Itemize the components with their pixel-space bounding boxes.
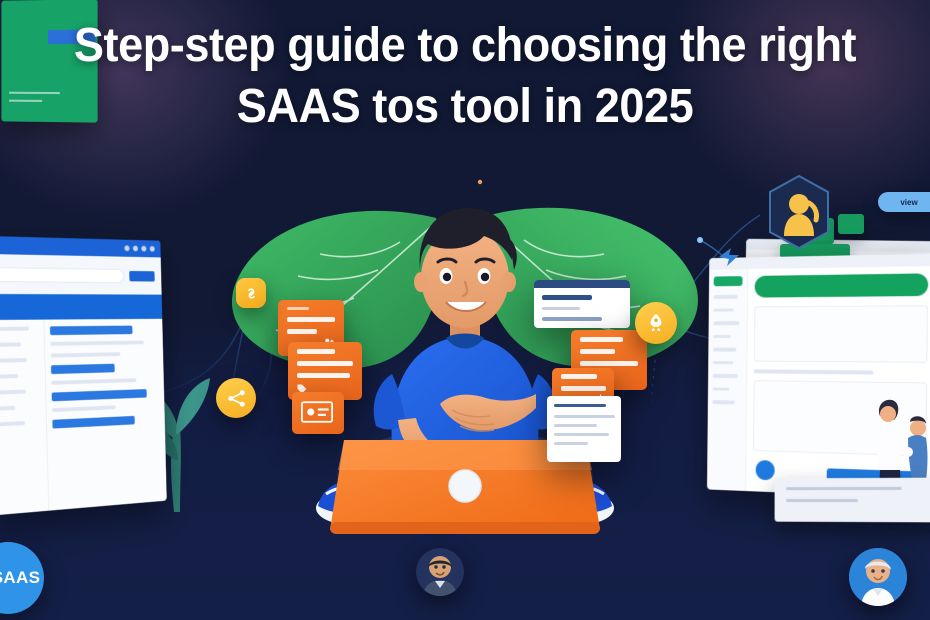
sidebar-item[interactable]	[713, 348, 736, 352]
card-line	[561, 386, 606, 391]
list-item	[554, 424, 597, 427]
sidebar-item[interactable]	[713, 334, 731, 337]
list-item[interactable]	[0, 374, 18, 379]
sidebar-item[interactable]	[713, 387, 730, 391]
gold-rocket-badge[interactable]	[635, 302, 677, 344]
gold-square-badge[interactable]	[236, 278, 266, 308]
headline-line-1: Step-step guide to choosing the right	[28, 16, 902, 76]
panel-left-detail	[44, 319, 166, 511]
card-line	[580, 361, 638, 366]
headline-line-2: SAAS tos tool in 2025	[28, 76, 902, 138]
card-line	[542, 317, 602, 321]
panel-left-body	[0, 319, 167, 516]
hero-illustration: Step-step guide to choosing the right SA…	[0, 0, 930, 620]
gold-network-badge[interactable]	[216, 378, 256, 418]
sidebar-item[interactable]	[713, 374, 738, 378]
cart-icon[interactable]	[133, 246, 138, 252]
list-item	[554, 433, 609, 436]
list-title	[554, 404, 606, 407]
status-badge	[52, 416, 135, 429]
sidebar-item[interactable]	[712, 400, 734, 404]
rocket-icon	[645, 312, 667, 334]
panel-left-search-row[interactable]	[0, 254, 162, 295]
detail-line	[51, 378, 136, 385]
avatar-right-bottom[interactable]	[849, 548, 907, 606]
green-banner	[755, 273, 929, 297]
card-line	[580, 349, 615, 354]
card-line	[561, 374, 597, 379]
sidebar-item[interactable]	[713, 321, 739, 324]
card-line	[542, 307, 580, 310]
cursor-arrow-icon	[717, 246, 741, 268]
light-info-strip[interactable]	[775, 478, 930, 523]
bell-icon[interactable]	[124, 245, 129, 251]
detail-line	[50, 340, 143, 345]
status-badge	[50, 326, 133, 336]
list-item	[554, 415, 615, 418]
link-icon	[243, 285, 260, 302]
list-item[interactable]	[0, 327, 29, 331]
hex-avatar-frame[interactable]	[766, 174, 832, 250]
list-item[interactable]	[0, 421, 25, 427]
detail-line	[52, 405, 116, 412]
detail-line	[51, 352, 121, 357]
strip-line	[786, 499, 858, 502]
green-chip-b	[838, 214, 864, 234]
white-notification-card[interactable]	[534, 280, 630, 328]
sidebar-logo	[714, 276, 743, 286]
sidebar-item[interactable]	[713, 308, 733, 312]
card-header	[534, 280, 630, 288]
card-title	[542, 295, 592, 300]
sidebar-item[interactable]	[714, 295, 738, 299]
sidebar[interactable]	[707, 269, 748, 491]
chat-icon[interactable]	[756, 460, 775, 480]
list-item[interactable]	[0, 358, 27, 363]
panel-left-section-header	[0, 294, 162, 320]
list-item[interactable]	[0, 390, 26, 395]
content-card[interactable]	[754, 305, 928, 363]
card-line	[580, 337, 623, 342]
primary-button[interactable]	[129, 270, 154, 281]
list-item[interactable]	[0, 342, 21, 346]
user-icon[interactable]	[150, 246, 155, 252]
saas-bubble-label: SAAS	[0, 568, 40, 588]
avatar-center-bottom[interactable]	[416, 548, 464, 596]
panel-left-dashboard[interactable]	[0, 236, 167, 516]
panel-left-rows[interactable]	[0, 320, 49, 516]
sidebar-item[interactable]	[713, 361, 734, 365]
list-item	[554, 442, 588, 445]
content-line	[754, 369, 874, 374]
search-input[interactable]	[0, 267, 124, 283]
blue-pill-button[interactable]: view	[878, 192, 930, 212]
share-nodes-icon	[225, 387, 248, 410]
grid-icon[interactable]	[141, 246, 146, 252]
white-list-card[interactable]	[547, 396, 621, 462]
page-title: Step-step guide to choosing the right SA…	[0, 16, 930, 138]
status-badge	[51, 364, 115, 374]
list-item[interactable]	[0, 406, 16, 411]
status-badge	[52, 389, 147, 401]
strip-line	[786, 487, 901, 490]
